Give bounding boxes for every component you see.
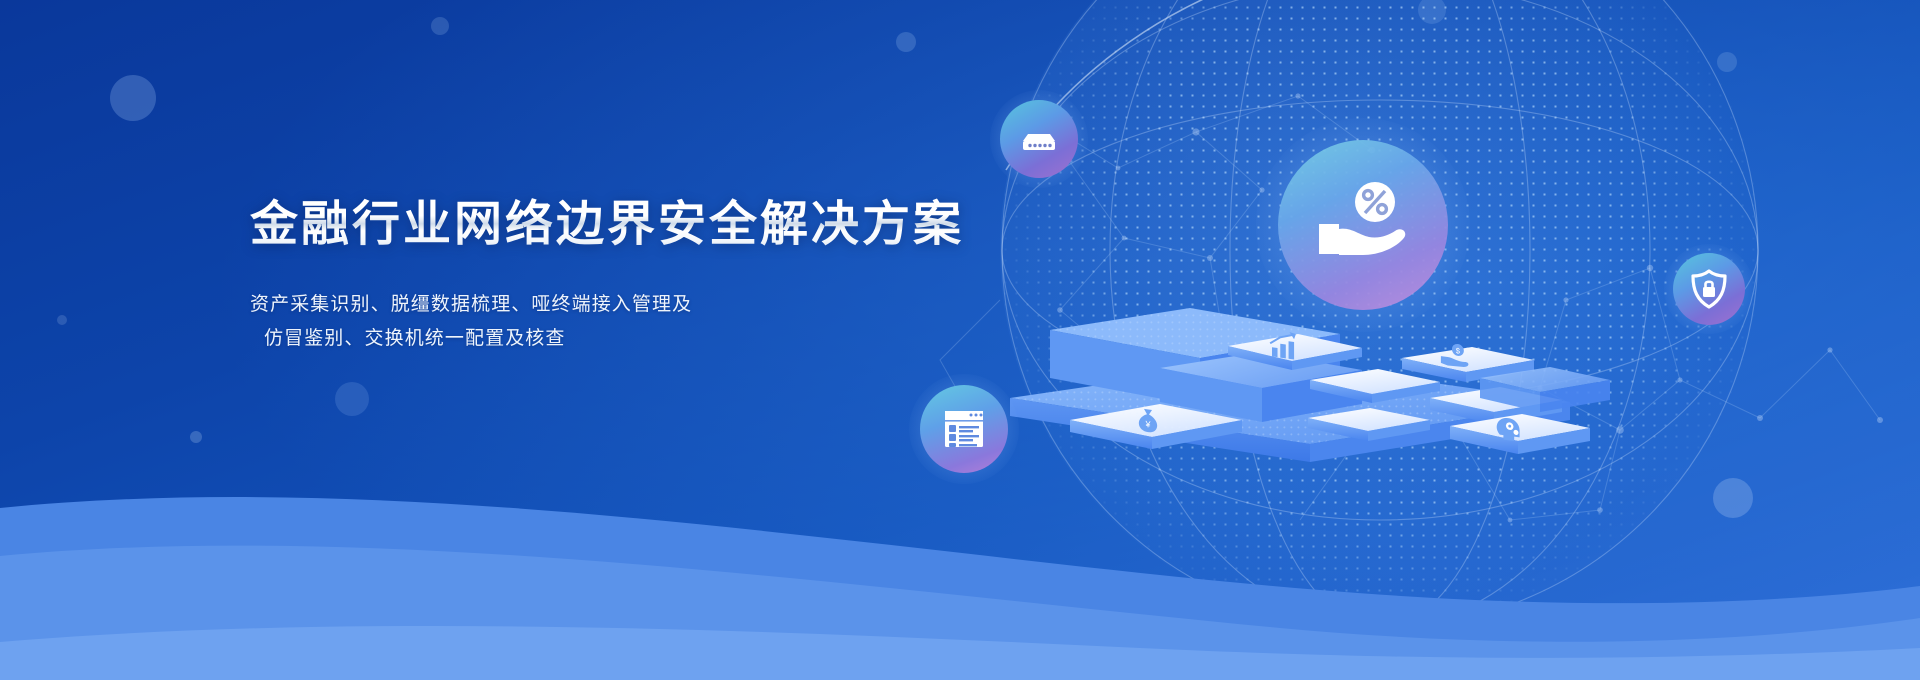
badge-router (1000, 100, 1078, 178)
badge-shield-lock (1673, 253, 1745, 325)
router-icon (1017, 117, 1061, 161)
banner-title: 金融行业网络边界安全解决方案 (250, 196, 1010, 254)
checklist-document-icon (938, 403, 990, 455)
banner-subtitle-line-1: 资产采集识别、脱缰数据梳理、哑终端接入管理及 (250, 288, 1010, 322)
solution-banner: ¥ ¥ $ (0, 0, 1920, 680)
hand-percent-icon (1307, 169, 1419, 281)
bokeh-circle (110, 75, 156, 121)
bokeh-circle (57, 315, 67, 325)
shield-lock-icon (1688, 268, 1730, 310)
svg-text:$: $ (1456, 346, 1461, 356)
bokeh-circle (431, 17, 449, 35)
badge-hand-percent (1278, 140, 1448, 310)
banner-subtitle-line-2: 仿冒鉴别、交换机统一配置及核查 (250, 322, 1010, 356)
bokeh-circle (896, 32, 916, 52)
banner-copy: 金融行业网络边界安全解决方案 资产采集识别、脱缰数据梳理、哑终端接入管理及 仿冒… (250, 196, 1010, 356)
bokeh-circle (1717, 52, 1737, 72)
banner-subtitle: 资产采集识别、脱缰数据梳理、哑终端接入管理及 仿冒鉴别、交换机统一配置及核查 (250, 288, 1010, 356)
bokeh-circle (1418, 0, 1446, 24)
